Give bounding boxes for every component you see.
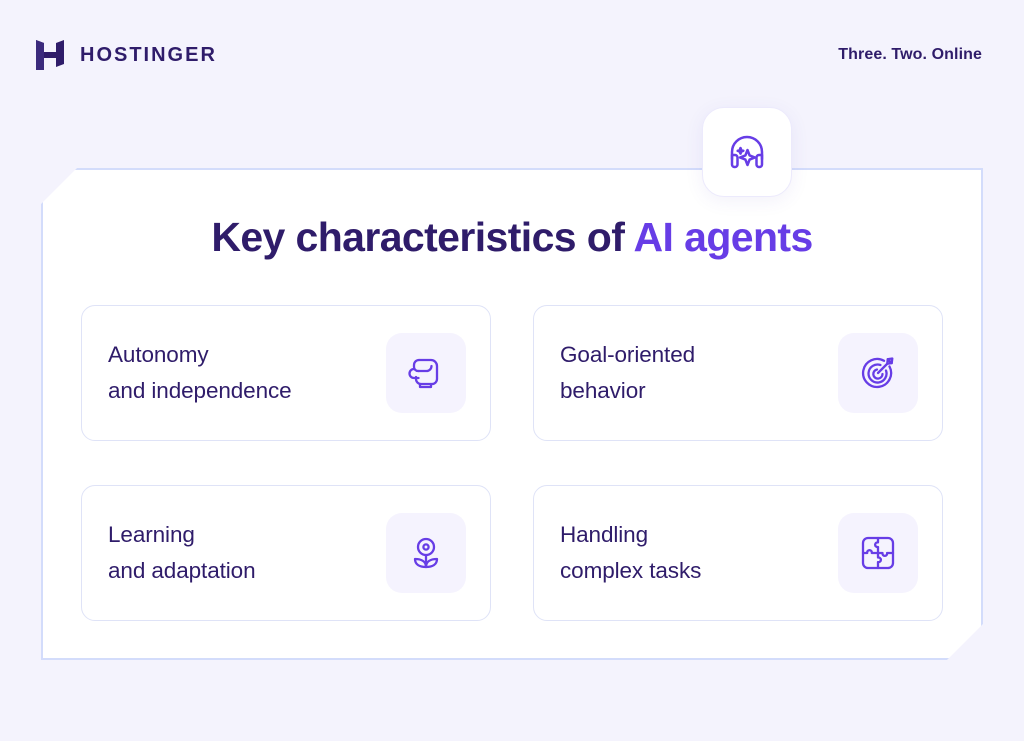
characteristic-card: Learning and adaptation — [81, 485, 491, 621]
page-title-accent: AI agents — [634, 214, 813, 260]
puzzle-pieces-icon — [858, 533, 898, 573]
card-label: Goal-oriented behavior — [560, 337, 695, 408]
card-icon-tile — [386, 513, 466, 593]
hostinger-h-logo-icon — [34, 38, 66, 72]
characteristic-card: Handling complex tasks — [533, 485, 943, 621]
boxing-glove-icon — [406, 353, 446, 393]
page-title: Key characteristics of AI agents — [0, 214, 1024, 261]
target-arrow-icon — [858, 353, 898, 393]
brand-name: HOSTINGER — [80, 44, 217, 67]
characteristic-card: Autonomy and independence — [81, 305, 491, 441]
card-icon-tile — [838, 333, 918, 413]
card-icon-tile — [386, 333, 466, 413]
card-label: Autonomy and independence — [108, 337, 292, 408]
headphones-sparkle-icon — [724, 129, 770, 175]
card-icon-tile — [838, 513, 918, 593]
flower-growth-icon — [406, 533, 446, 573]
page-title-lead: Key characteristics of — [211, 214, 633, 260]
tagline: Three. Two. Online — [838, 46, 982, 64]
header-badge — [702, 107, 792, 197]
card-label: Learning and adaptation — [108, 517, 256, 588]
characteristic-card: Goal-oriented behavior — [533, 305, 943, 441]
card-label: Handling complex tasks — [560, 517, 701, 588]
brand-logo: HOSTINGER — [34, 38, 217, 72]
page-header: HOSTINGER Three. Two. Online — [0, 0, 1024, 110]
characteristics-grid: Autonomy and independence Goal-oriented … — [81, 305, 943, 621]
